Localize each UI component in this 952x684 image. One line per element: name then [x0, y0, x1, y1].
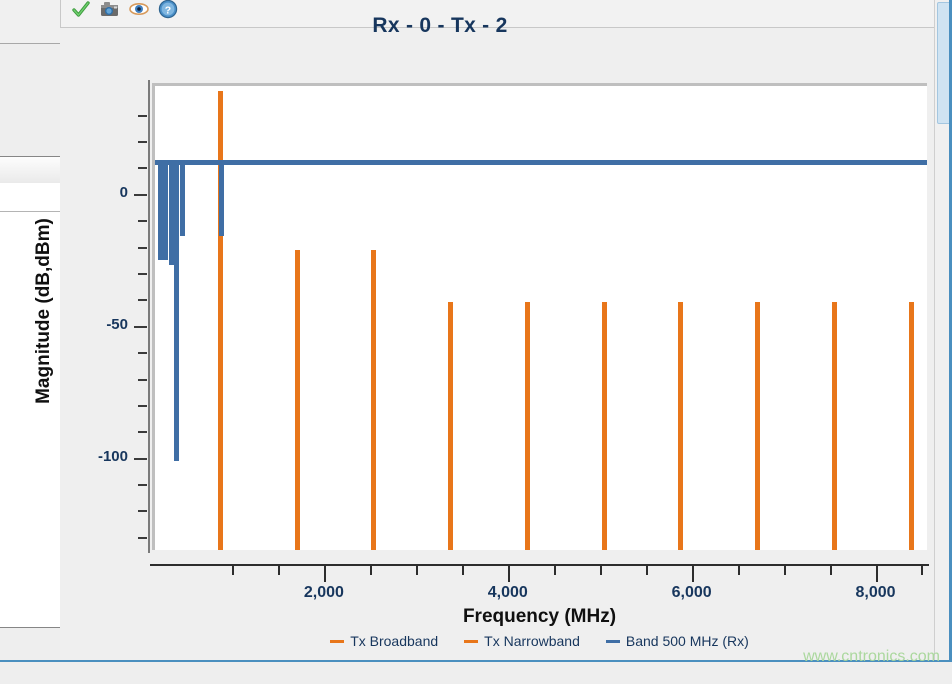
series-spike	[755, 302, 760, 550]
legend-item[interactable]: Tx Broadband	[330, 633, 438, 649]
x-axis-line	[150, 564, 929, 566]
series-spike	[602, 302, 607, 550]
legend-item[interactable]: Band 500 MHz (Rx)	[606, 633, 749, 649]
legend-swatch	[606, 640, 620, 643]
x-axis-minor-tick	[554, 566, 556, 575]
x-axis-tick	[876, 566, 878, 582]
y-axis-minor-tick	[138, 141, 147, 143]
y-axis-minor-tick	[138, 510, 147, 512]
series-band-plateau	[155, 160, 927, 165]
series-spike	[448, 302, 453, 550]
series-spike	[678, 302, 683, 550]
series-band-notch	[174, 160, 179, 461]
x-axis-minor-tick	[784, 566, 786, 575]
x-axis-minor-tick	[462, 566, 464, 575]
legend-swatch	[464, 640, 478, 643]
y-axis-minor-tick	[138, 299, 147, 301]
y-axis-minor-tick	[138, 352, 147, 354]
legend-label: Tx Narrowband	[484, 633, 580, 649]
series-spike	[832, 302, 837, 550]
x-axis-minor-tick	[830, 566, 832, 575]
watermark: www.cntronics.com	[803, 648, 940, 666]
y-axis-minor-tick	[138, 273, 147, 275]
chart-title: Rx - 0 - Tx - 2	[0, 14, 880, 38]
y-axis-minor-tick	[138, 537, 147, 539]
x-axis-label: 2,000	[304, 584, 344, 602]
x-axis-tick	[324, 566, 326, 582]
y-axis-minor-tick	[138, 431, 147, 433]
legend-swatch	[330, 640, 344, 643]
series-spike	[371, 250, 376, 550]
x-axis-minor-tick	[416, 566, 418, 575]
y-axis-minor-tick	[138, 115, 147, 117]
y-axis-minor-tick	[138, 379, 147, 381]
x-axis-minor-tick	[646, 566, 648, 575]
legend-item[interactable]: Tx Narrowband	[464, 633, 580, 649]
y-axis-line	[148, 80, 150, 553]
series-band-notch	[180, 160, 185, 237]
x-axis-tick	[508, 566, 510, 582]
y-axis-label: -50	[70, 316, 128, 333]
chart-legend: Tx BroadbandTx NarrowbandBand 500 MHz (R…	[152, 633, 927, 649]
application-root: ? Rx - 0 - Tx - 2 0-50-1002,0004,0006,00…	[0, 0, 952, 684]
y-axis-minor-tick	[138, 405, 147, 407]
x-axis-label: 6,000	[672, 584, 712, 602]
x-axis-minor-tick	[921, 566, 923, 575]
series-spike	[295, 250, 300, 550]
x-axis-label: 8,000	[855, 584, 895, 602]
y-axis-minor-tick	[138, 167, 147, 169]
legend-label: Tx Broadband	[350, 633, 438, 649]
series-band-notch	[163, 160, 168, 260]
legend-label: Band 500 MHz (Rx)	[626, 633, 749, 649]
x-axis-minor-tick	[370, 566, 372, 575]
y-axis-tick	[134, 194, 147, 196]
series-band-notch	[219, 160, 224, 237]
plot-area[interactable]	[152, 83, 927, 550]
y-axis-label: -100	[70, 448, 128, 465]
y-axis-label: 0	[70, 184, 128, 201]
x-axis-tick	[692, 566, 694, 582]
x-axis-minor-tick	[278, 566, 280, 575]
x-axis-title: Frequency (MHz)	[152, 606, 927, 628]
x-axis-minor-tick	[738, 566, 740, 575]
series-band-notch	[169, 160, 174, 266]
y-axis-minor-tick	[138, 247, 147, 249]
y-axis-minor-tick	[138, 484, 147, 486]
y-axis-minor-tick	[138, 220, 147, 222]
series-spike	[909, 302, 914, 550]
y-axis-title: Magnitude (dB,dBm)	[33, 181, 55, 441]
series-spike	[525, 302, 530, 550]
x-axis-minor-tick	[600, 566, 602, 575]
x-axis-label: 4,000	[488, 584, 528, 602]
y-axis-tick	[134, 326, 147, 328]
y-axis-tick	[134, 458, 147, 460]
x-axis-minor-tick	[232, 566, 234, 575]
